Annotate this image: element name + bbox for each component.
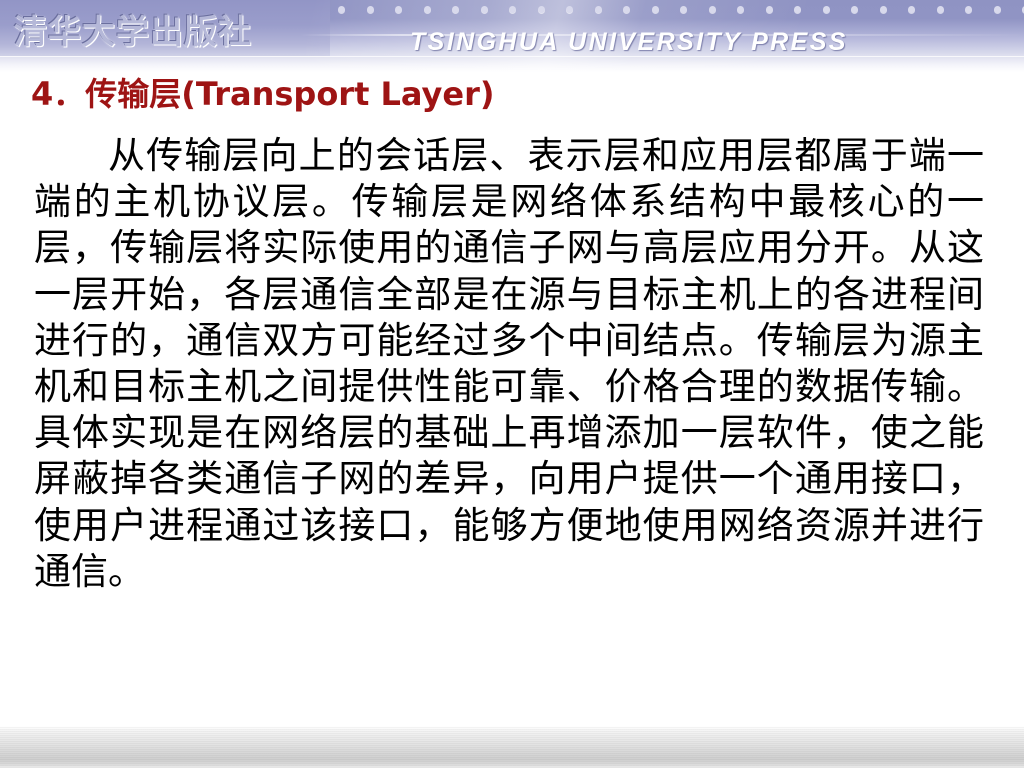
header-dot-icon <box>709 6 716 13</box>
header-dot-icon <box>424 6 431 13</box>
page-title: 4．传输层(Transport Layer) <box>31 74 495 114</box>
header-dot-icon <box>766 6 773 13</box>
header-dot-icon <box>937 6 944 13</box>
header-dot-icon <box>338 6 345 13</box>
header-dot-icon <box>737 6 744 13</box>
header-dot-icon <box>395 6 402 13</box>
header-dot-icon <box>965 6 972 13</box>
header-dot-row <box>338 6 1024 18</box>
slide-header: 清华大学出版社 TSINGHUA UNIVERSITY PRESS <box>0 0 1024 72</box>
slide: 清华大学出版社 TSINGHUA UNIVERSITY PRESS 4．传输层(… <box>0 0 1024 768</box>
header-dot-icon <box>538 6 545 13</box>
header-dot-icon <box>908 6 915 13</box>
header-dot-icon <box>452 6 459 13</box>
header-dot-icon <box>652 6 659 13</box>
publisher-name-english: TSINGHUA UNIVERSITY PRESS <box>410 28 848 57</box>
header-dot-icon <box>794 6 801 13</box>
header-dot-icon <box>367 6 374 13</box>
header-dot-icon <box>680 6 687 13</box>
publisher-logo-chinese: 清华大学出版社 <box>14 5 252 53</box>
body-paragraph: 从传输层向上的会话层、表示层和应用层都属于端一端的主机协议层。传输层是网络体系结… <box>34 133 984 595</box>
header-dot-icon <box>851 6 858 13</box>
header-dot-icon <box>623 6 630 13</box>
slide-footer <box>0 726 1024 768</box>
header-dot-icon <box>994 6 1001 13</box>
header-dot-icon <box>595 6 602 13</box>
header-dot-icon <box>566 6 573 13</box>
header-dot-icon <box>823 6 830 13</box>
header-dot-icon <box>509 6 516 13</box>
header-dot-icon <box>481 6 488 13</box>
header-dot-icon <box>880 6 887 13</box>
